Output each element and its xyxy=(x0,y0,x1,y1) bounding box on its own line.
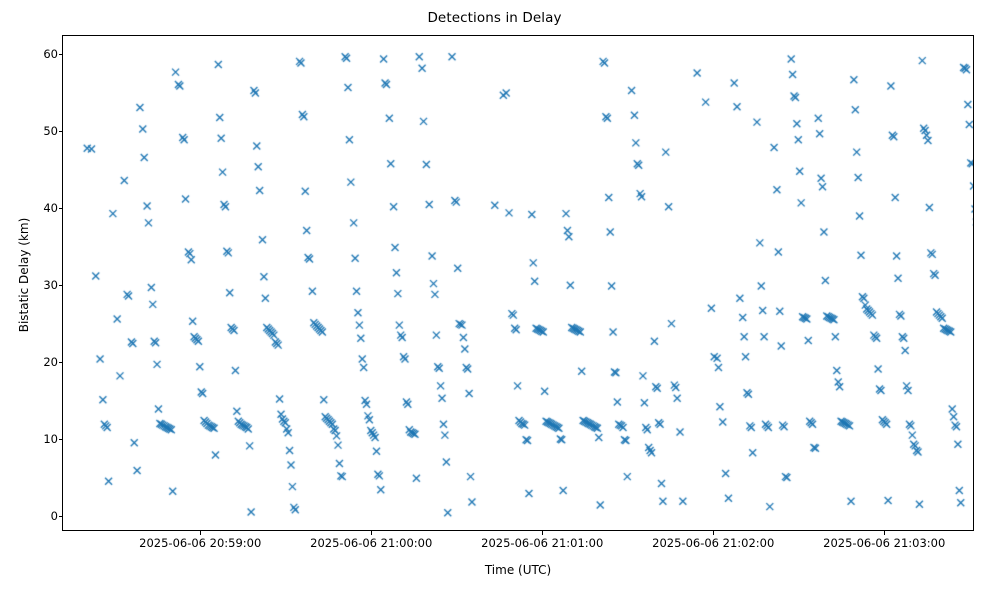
y-tick-label: 40 xyxy=(43,201,58,215)
y-tick-mark xyxy=(59,208,63,209)
page-title: Detections in Delay xyxy=(0,10,989,26)
y-tick-label: 20 xyxy=(43,355,58,369)
y-tick-mark xyxy=(59,439,63,440)
matplotlib-figure: Detections in Delay 2025-06-06 20:59:002… xyxy=(0,0,989,590)
x-axis-label: Time (UTC) xyxy=(62,563,974,577)
x-tick-label: 2025-06-06 20:59:00 xyxy=(139,536,261,550)
x-tick-mark xyxy=(200,531,201,535)
x-tick-label: 2025-06-06 21:03:00 xyxy=(823,536,945,550)
y-axis-label: Bistatic Delay (km) xyxy=(17,145,31,405)
plot-area xyxy=(62,35,974,531)
y-tick-label: 50 xyxy=(43,124,58,138)
scatter-series-canvas xyxy=(63,36,974,531)
y-tick-label: 0 xyxy=(51,509,58,523)
y-tick-mark xyxy=(59,54,63,55)
y-tick-mark xyxy=(59,285,63,286)
y-tick-mark xyxy=(59,131,63,132)
y-tick-mark xyxy=(59,362,63,363)
x-tick-label: 2025-06-06 21:00:00 xyxy=(310,536,432,550)
y-tick-label: 30 xyxy=(43,278,58,292)
x-tick-mark xyxy=(713,531,714,535)
x-tick-mark xyxy=(371,531,372,535)
y-tick-mark xyxy=(59,516,63,517)
x-tick-mark xyxy=(884,531,885,535)
x-tick-mark xyxy=(542,531,543,535)
x-tick-label: 2025-06-06 21:01:00 xyxy=(481,536,603,550)
y-tick-label: 10 xyxy=(43,432,58,446)
x-tick-label: 2025-06-06 21:02:00 xyxy=(652,536,774,550)
y-tick-label: 60 xyxy=(43,47,58,61)
